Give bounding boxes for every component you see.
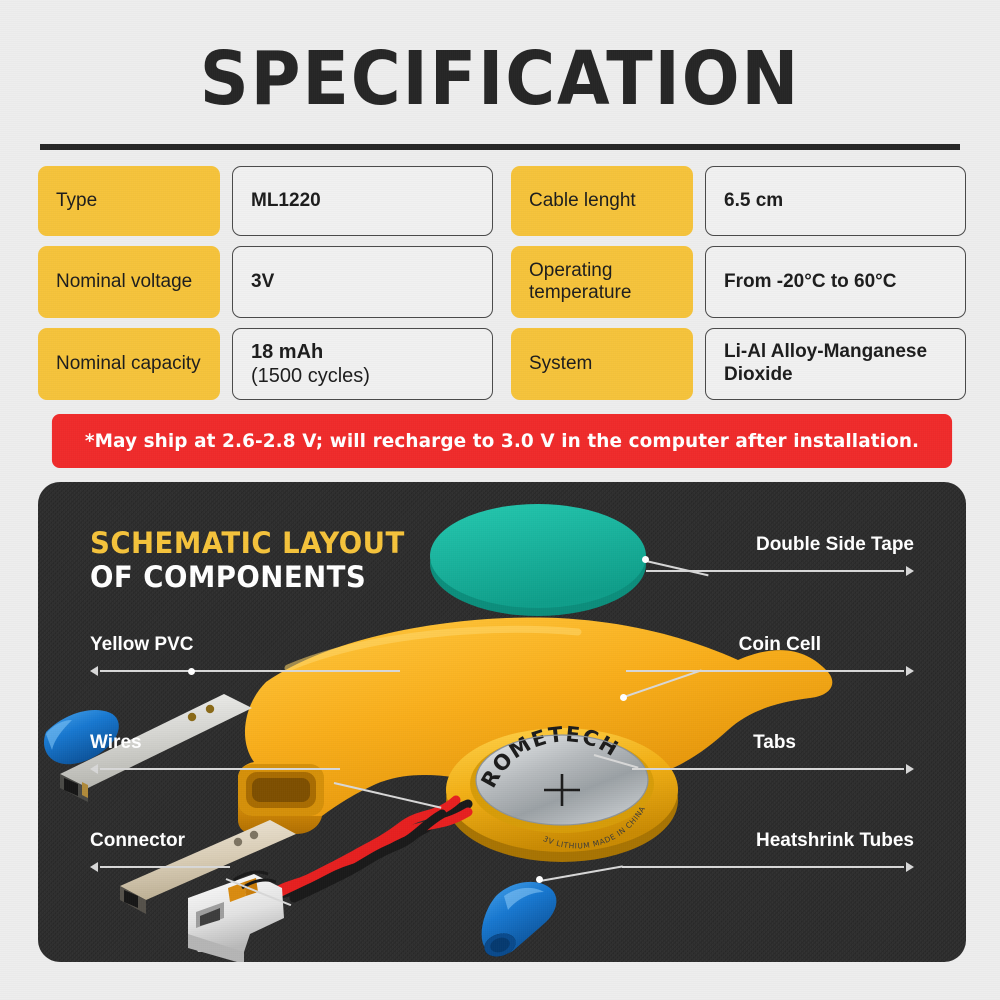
title-divider [40,144,960,150]
spec-value: 6.5 cm [705,166,966,236]
specification-table: Type ML1220 Cable lenght 6.5 cm Nominal … [38,166,966,410]
leader-dot-double-side-tape [642,556,649,563]
table-row: Nominal voltage 3V Operating temperature… [38,246,966,318]
spec-label: Type [38,166,220,236]
leader-dot-coin-cell [620,694,627,701]
callout-label-heatshrink-tubes: Heatshrink Tubes [756,830,914,852]
table-row: Nominal capacity 18 mAh (1500 cycles) Sy… [38,328,966,400]
spec-label: Cable lenght [511,166,693,236]
callout-label-yellow-pvc: Yellow PVC [90,634,193,656]
leader-arrow-double-side-tape [906,566,914,576]
leader-line-heatshrink-tubes [622,866,904,868]
leader-arrow-yellow-pvc [90,666,98,676]
connector-art [188,872,284,962]
callout-label-tabs: Tabs [753,732,796,754]
leader-dot-heatshrink-tubes [536,876,543,883]
spec-pair-type: Type ML1220 [38,166,493,236]
leader-line-tabs [632,768,904,770]
spec-value-sub: (1500 cycles) [251,364,370,388]
spec-pair-nominal-capacity: Nominal capacity 18 mAh (1500 cycles) [38,328,493,400]
table-row: Type ML1220 Cable lenght 6.5 cm [38,166,966,236]
leader-dot-yellow-pvc [188,668,195,675]
double-side-tape-art [430,504,646,616]
leader-arrow-connector [90,862,98,872]
spec-label: Nominal voltage [38,246,220,318]
warning-banner: *May ship at 2.6-2.8 V; will recharge to… [52,414,952,468]
spec-label: System [511,328,693,400]
callout-label-wires: Wires [90,732,142,754]
spec-pair-operating-temperature: Operating temperature From -20°C to 60°C [511,246,966,318]
spec-value: ML1220 [232,166,493,236]
callout-label-connector: Connector [90,830,185,852]
leader-line-yellow-pvc [100,670,400,672]
spec-value-main: 18 mAh [251,340,370,364]
leader-arrow-coin-cell [906,666,914,676]
leader-line-wires [100,768,340,770]
spec-label: Nominal capacity [38,328,220,400]
callout-label-double-side-tape: Double Side Tape [756,534,914,556]
spec-pair-nominal-voltage: Nominal voltage 3V [38,246,493,318]
heatshrink-tube-lower-art [481,882,556,961]
spec-value: Li-Al Alloy-Manganese Dioxide [705,328,966,400]
spec-value: 3V [232,246,493,318]
spec-pair-cable-lenght: Cable lenght 6.5 cm [511,166,966,236]
leader-line-connector [100,866,230,868]
spec-label: Operating temperature [511,246,693,318]
schematic-panel: SCHEMATIC LAYOUT OF COMPONENTS [38,482,966,962]
leader-arrow-tabs [906,764,914,774]
spec-value: From -20°C to 60°C [705,246,966,318]
leader-arrow-wires [90,764,98,774]
spec-value: 18 mAh (1500 cycles) [232,328,493,400]
leader-arrow-heatshrink-tubes [906,862,914,872]
page-title: SPECIFICATION [40,42,960,116]
leader-line-coin-cell [626,670,904,672]
spec-pair-system: System Li-Al Alloy-Manganese Dioxide [511,328,966,400]
callout-label-coin-cell: Coin Cell [739,634,821,656]
